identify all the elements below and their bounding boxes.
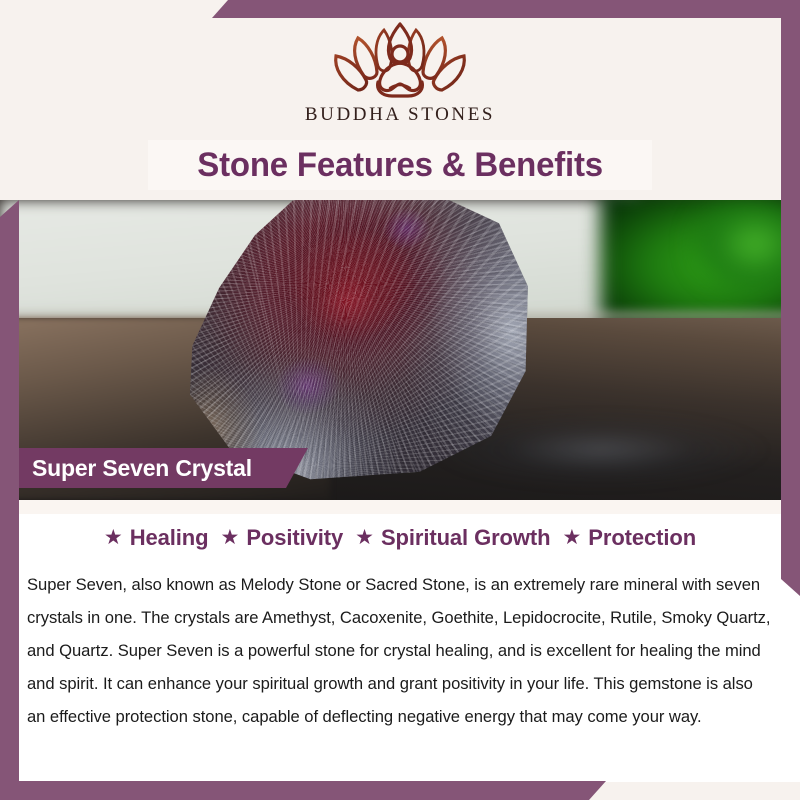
brand-name: BUDDHA STONES: [305, 104, 495, 126]
benefit-label: Healing: [130, 525, 209, 551]
content-section: ★ Healing ★ Positivity ★ Spiritual Growt…: [0, 500, 800, 782]
product-name: Super Seven Crystal: [32, 455, 252, 482]
star-icon: ★: [104, 527, 123, 548]
star-icon: ★: [355, 527, 374, 548]
star-icon: ★: [562, 527, 581, 548]
benefits-list: ★ Healing ★ Positivity ★ Spiritual Growt…: [0, 525, 800, 551]
benefit-label: Spiritual Growth: [381, 525, 551, 551]
product-name-banner: Super Seven Crystal: [0, 448, 308, 488]
header-section: BUDDHA STONES Stone Features & Benefits: [0, 0, 800, 200]
page-title: Stone Features & Benefits: [197, 146, 603, 185]
benefit-item: ★ Spiritual Growth: [355, 525, 550, 551]
frame-band-bottom: [0, 781, 606, 800]
star-icon: ★: [220, 527, 239, 548]
infographic-poster: BUDDHA STONES Stone Features & Benefits: [0, 0, 800, 800]
benefit-item: ★ Positivity: [220, 525, 343, 551]
product-description: Super Seven, also known as Melody Stone …: [27, 568, 775, 733]
frame-band-right: [781, 0, 800, 596]
title-bar: Stone Features & Benefits: [148, 140, 652, 190]
benefit-item: ★ Healing: [104, 525, 209, 551]
benefit-item: ★ Protection: [562, 525, 696, 551]
benefit-label: Protection: [588, 525, 696, 551]
lotus-meditation-icon: [320, 18, 480, 102]
frame-band-top: [212, 0, 800, 18]
benefit-label: Positivity: [246, 525, 343, 551]
brand-logo: BUDDHA STONES: [0, 18, 800, 136]
frame-band-left: [0, 200, 19, 800]
